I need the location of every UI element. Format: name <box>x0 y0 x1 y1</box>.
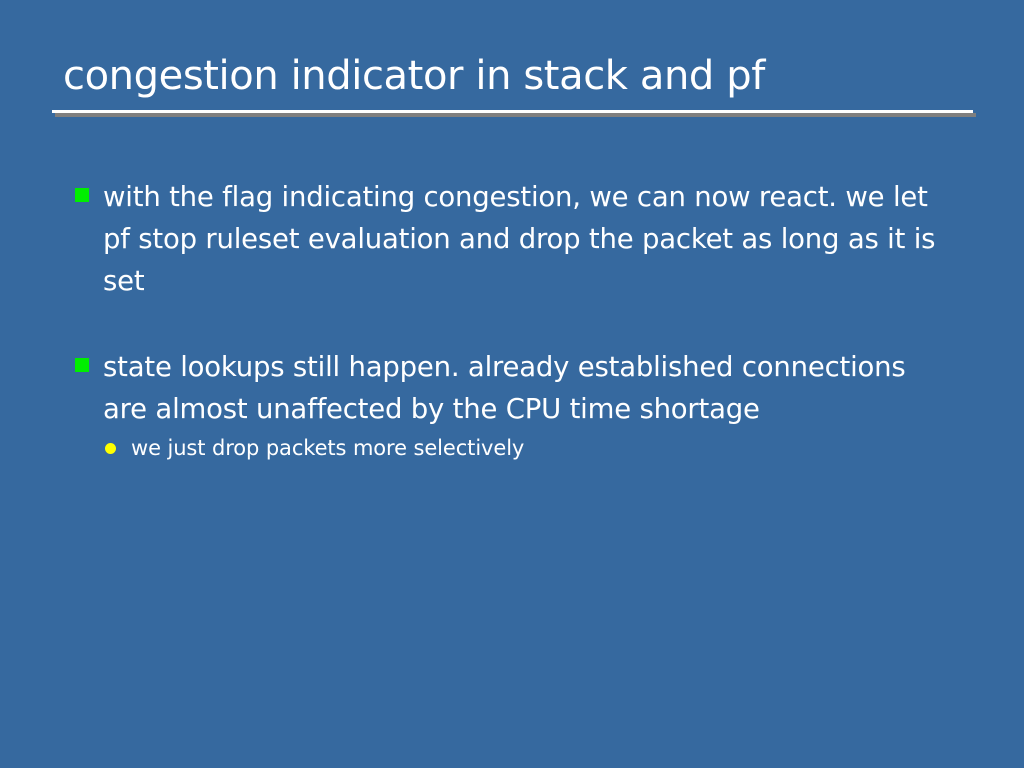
title-underline-shadow <box>55 113 976 117</box>
list-item-label: state lookups still happen. already esta… <box>103 346 943 430</box>
sub-list-item-label: we just drop packets more selectively <box>131 436 524 460</box>
list-item-label: with the flag indicating congestion, we … <box>103 176 943 302</box>
green-square-bullet-icon <box>75 358 89 372</box>
list-item: state lookups still happen. already esta… <box>72 346 972 430</box>
sub-list-item: we just drop packets more selectively <box>72 432 972 464</box>
yellow-round-bullet-icon <box>105 443 116 454</box>
bullet-spacer <box>72 302 972 346</box>
slide-body: with the flag indicating congestion, we … <box>72 176 972 464</box>
slide-title-block: congestion indicator in stack and pf <box>52 52 977 100</box>
presentation-slide: congestion indicator in stack and pf wit… <box>0 0 1024 768</box>
page-title: congestion indicator in stack and pf <box>52 52 977 100</box>
list-item: with the flag indicating congestion, we … <box>72 176 972 302</box>
green-square-bullet-icon <box>75 188 89 202</box>
